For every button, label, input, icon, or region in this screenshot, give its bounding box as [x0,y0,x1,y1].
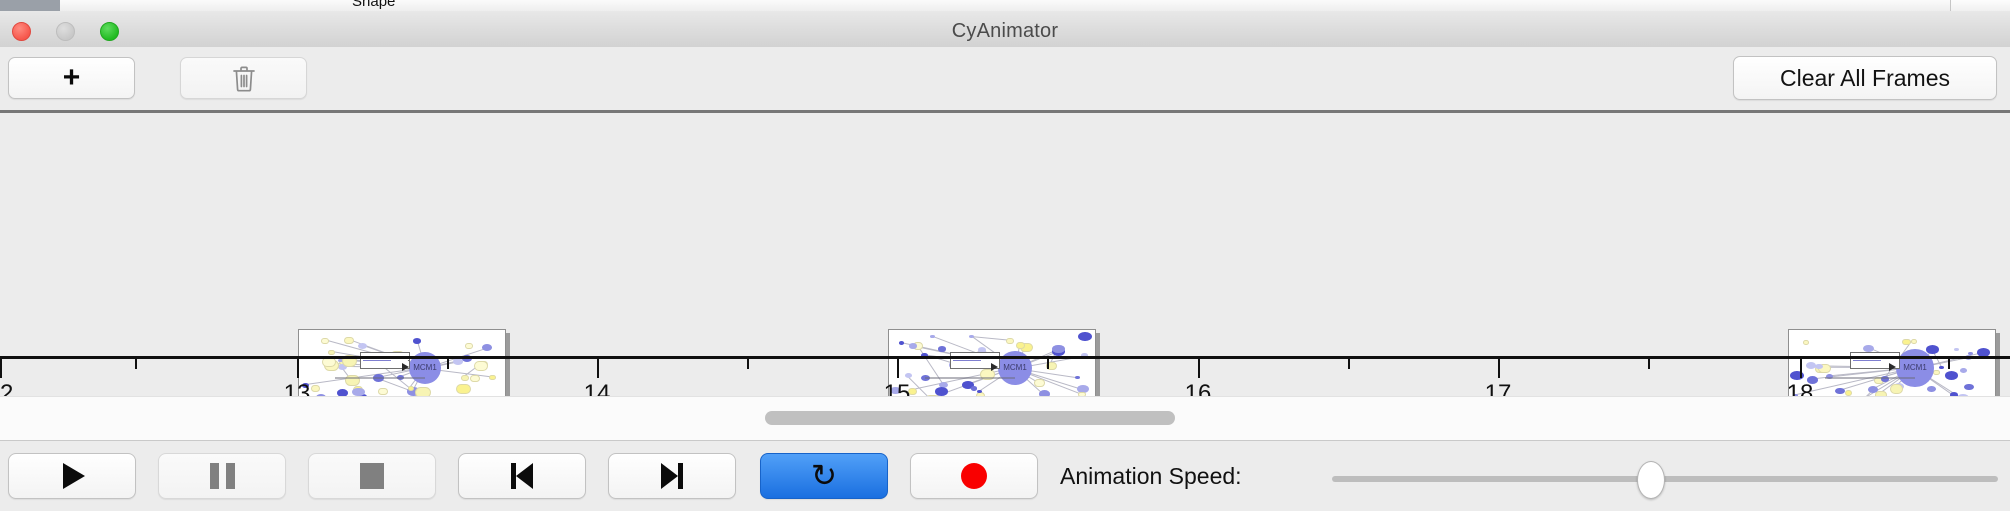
graph-node [1803,340,1810,345]
graph-node [1960,368,1967,373]
background-window-column-label: Shape [352,0,395,10]
ruler-tick-label: 12 [0,380,13,396]
graph-annotation-arrow [402,363,409,371]
ruler-tick-major [1198,359,1200,378]
animation-speed-slider-thumb[interactable] [1637,461,1665,499]
graph-node [470,375,480,382]
graph-node [1890,384,1904,394]
graph-node [1845,390,1852,396]
graph-node [1806,362,1816,369]
timeline-scrollbar[interactable] [0,396,2010,441]
delete-frame-button[interactable] [180,57,307,99]
graph-node [344,337,354,344]
graph-node [1933,370,1939,375]
graph-node [971,386,978,391]
toolbar: + Clear All Frames [0,47,2010,109]
graph-node [1863,345,1873,352]
graph-node [413,338,421,343]
graph-node [453,358,463,365]
graph-node [930,335,934,338]
graph-node [352,388,364,396]
graph-node [456,384,471,395]
add-frame-button[interactable]: + [8,57,135,99]
graph-node [1078,332,1091,341]
timeline-panel[interactable]: MCM1MCM1MCM1 12131415161718 Seconds [0,113,2010,396]
graph-node [1911,339,1918,344]
network-graph-thumbnail: MCM1 [888,329,1096,396]
cyanimator-window: Shape CyAnimator + Clear All Frames MCM1… [0,0,2010,510]
graph-node [378,388,388,395]
graph-node [482,344,492,351]
skip-forward-icon [661,463,683,489]
plus-icon: + [63,63,81,93]
graph-node [1075,376,1080,379]
ruler-tick-major [1800,359,1802,378]
graph-node [899,341,904,345]
ruler-tick-major [897,359,899,378]
animation-speed-slider-track[interactable] [1332,476,1998,482]
graph-node [1939,366,1943,369]
graph-node [1927,386,1936,392]
graph-annotation-arrow [1889,363,1896,371]
graph-node [905,373,912,378]
window-title: CyAnimator [0,20,2010,43]
graph-node [337,389,348,396]
graph-node [465,343,473,349]
graph-annotation-text-line [953,360,981,361]
ruler-tick-major [0,359,2,378]
ruler-tick-minor [447,359,449,369]
ruler-tick-major [1498,359,1500,378]
ruler-tick-minor [135,359,137,369]
graph-node [938,346,946,351]
pause-button[interactable] [158,453,286,499]
ruler-tick-label: 17 [1485,380,1512,396]
graph-node [328,350,335,355]
network-graph-thumbnail: MCM1 [298,329,506,396]
network-graph-thumbnail: MCM1 [1788,329,1996,396]
graph-annotation-text-line [1853,360,1881,361]
graph-annotation-arrow [991,363,998,371]
graph-node [1815,364,1822,369]
graph-node [1964,384,1974,391]
graph-node [461,375,470,382]
ruler-baseline [0,356,2010,359]
skip-back-icon [511,463,533,489]
trash-icon [232,65,256,92]
stop-button[interactable] [308,453,436,499]
loop-icon: ↻ [811,461,837,492]
ruler-tick-label: 13 [284,380,311,396]
record-icon [961,463,987,489]
next-frame-button[interactable] [608,453,736,499]
graph-node [311,385,320,392]
graph-caption-line [335,377,425,379]
ruler-tick-minor [1047,359,1049,369]
ruler-tick-minor [747,359,749,369]
previous-frame-button[interactable] [458,453,586,499]
graph-hub-label: MCM1 [410,363,440,372]
graph-node [1006,338,1014,344]
playback-controls-bar: ↻ Animation Speed: [0,440,2010,511]
ruler-tick-minor [1948,359,1950,369]
clear-all-frames-label: Clear All Frames [1780,65,1950,92]
scrollbar-thumb[interactable] [765,411,1175,425]
play-button[interactable] [8,453,136,499]
ruler-tick-label: 15 [884,380,911,396]
ruler-tick-minor [1348,359,1350,369]
graph-caption-line [1825,377,1915,379]
graph-node [358,343,367,349]
stop-icon [360,463,384,489]
graph-node [1954,348,1959,351]
graph-annotation-leader [408,360,409,361]
ruler-tick-label: 14 [584,380,611,396]
graph-node [1835,388,1845,395]
timeline-frame-thumbnail[interactable]: MCM1 [888,329,1098,396]
loop-button[interactable]: ↻ [760,453,888,499]
title-bar[interactable]: CyAnimator [0,11,2010,48]
ruler-tick-major [297,359,299,378]
graph-node [1902,339,1911,346]
timeline-frame-thumbnail[interactable]: MCM1 [298,329,508,396]
graph-hub-label: MCM1 [1900,363,1930,372]
play-icon [63,463,85,489]
graph-node [415,387,430,396]
pause-icon [210,463,235,489]
record-button[interactable] [910,453,1038,499]
timeline-ruler: 12131415161718 Seconds [0,356,2010,357]
graph-node [474,361,488,371]
animation-speed-label: Animation Speed: [1060,463,1242,490]
graph-hub-label: MCM1 [1000,363,1030,372]
timeline-frame-thumbnail[interactable]: MCM1 [1788,329,1998,396]
ruler-tick-label: 16 [1185,380,1212,396]
ruler-tick-label: 18 [1787,380,1814,396]
ruler-tick-minor [1648,359,1650,369]
graph-node [1945,371,1959,380]
graph-node [489,375,496,381]
graph-caption-line [925,377,1015,379]
graph-annotation-text-line [363,360,391,361]
ruler-tick-major [597,359,599,378]
graph-node [969,335,974,339]
clear-all-frames-button[interactable]: Clear All Frames [1733,56,1997,100]
graph-node [321,338,329,344]
graph-node [1034,379,1045,387]
